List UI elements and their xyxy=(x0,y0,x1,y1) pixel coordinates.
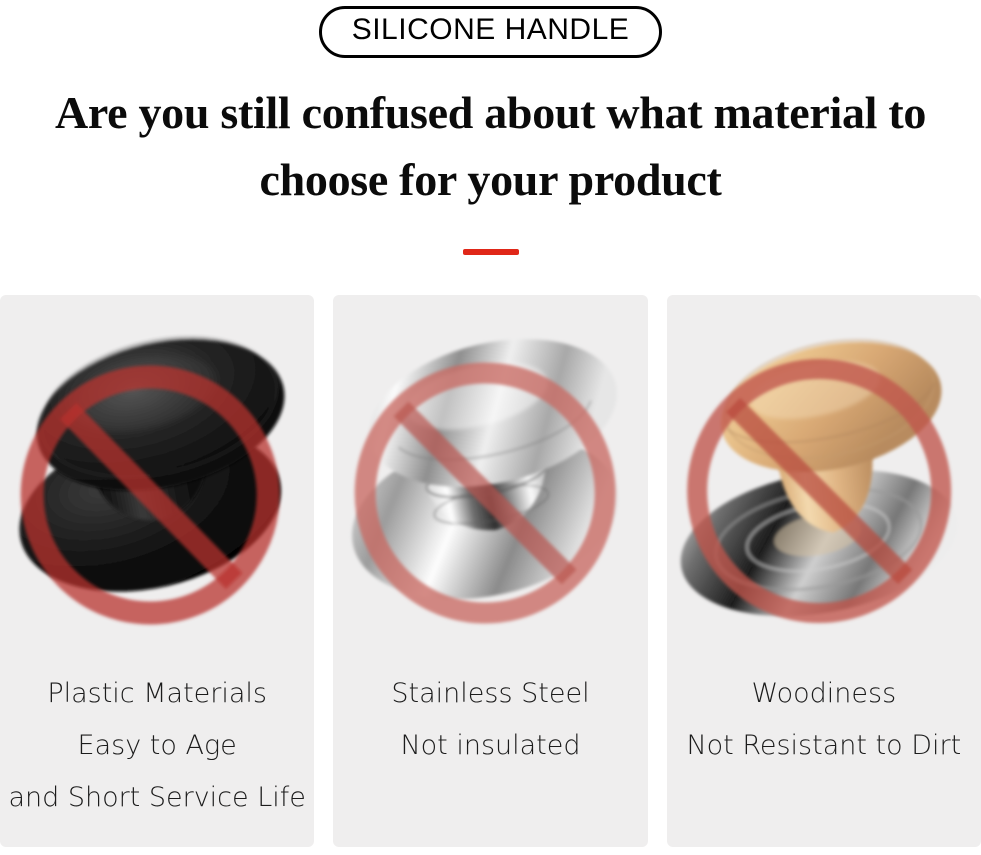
caption-line: Plastic Materials xyxy=(0,668,314,720)
badge-container: SILICONE HANDLE xyxy=(0,6,981,58)
infographic-page: SILICONE HANDLE Are you still confused a… xyxy=(0,0,981,855)
card-media-woodiness xyxy=(667,295,981,650)
caption-line: Woodiness xyxy=(667,668,981,720)
material-card-woodiness: Woodiness Not Resistant to Dirt xyxy=(667,295,981,847)
red-accent-divider xyxy=(463,249,519,255)
silicone-handle-badge: SILICONE HANDLE xyxy=(319,6,663,58)
material-card-row: Plastic Materials Easy to Age and Short … xyxy=(0,295,981,847)
card-caption-plastic: Plastic Materials Easy to Age and Short … xyxy=(0,650,314,847)
page-title: Are you still confused about what materi… xyxy=(0,80,981,213)
caption-line: Stainless Steel xyxy=(333,668,647,720)
divider-container xyxy=(0,249,981,255)
caption-line: Not insulated xyxy=(333,720,647,772)
page-title-line-2: choose for your product xyxy=(0,147,981,214)
card-media-stainless-steel xyxy=(333,295,647,650)
material-card-plastic: Plastic Materials Easy to Age and Short … xyxy=(0,295,314,847)
wooden-pot-lid-knob-photo xyxy=(667,295,981,650)
black-plastic-pot-lid-knob-photo xyxy=(0,295,314,650)
card-media-plastic xyxy=(0,295,314,650)
caption-line: and Short Service Life xyxy=(0,772,314,824)
material-card-stainless-steel: Stainless Steel Not insulated xyxy=(333,295,647,847)
stainless-steel-pot-lid-knob-photo xyxy=(333,295,647,650)
caption-line: Easy to Age xyxy=(0,720,314,772)
card-caption-woodiness: Woodiness Not Resistant to Dirt xyxy=(667,650,981,847)
card-caption-stainless-steel: Stainless Steel Not insulated xyxy=(333,650,647,847)
caption-line: Not Resistant to Dirt xyxy=(667,720,981,772)
page-title-line-1: Are you still confused about what materi… xyxy=(0,80,981,147)
